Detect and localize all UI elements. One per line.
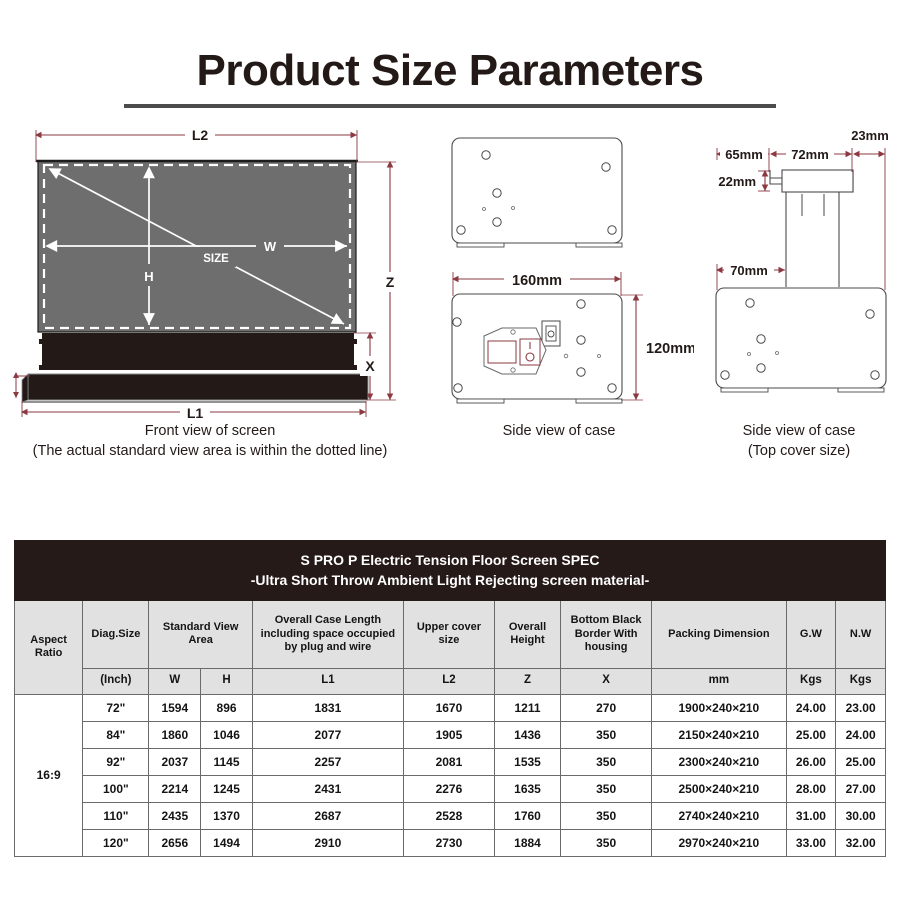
cell-x: 350 [561,748,652,775]
cell-x: 350 [561,721,652,748]
cell-w: 2214 [149,775,201,802]
cell-gw: 25.00 [786,721,836,748]
side-view-top-cover-svg: 65mm 72mm 23mm 22mm 70mm [698,122,900,422]
cell-l1: 2910 [252,829,403,856]
cell-h: 1370 [201,802,253,829]
cell-x: 270 [561,694,652,721]
side-view-case-label-width: 160mm [512,273,562,289]
table-row: 110"243513702687252817603502740×240×2103… [15,802,886,829]
unit-x: X [561,668,652,694]
cell-h: 1494 [201,829,253,856]
cell-l2: 1670 [403,694,494,721]
front-view-caption-line2: (The actual standard view area is within… [0,442,420,462]
cell-w: 1860 [149,721,201,748]
cell-packing-dimension: 1900×240×210 [652,694,786,721]
cell-diag-size: 110" [83,802,149,829]
cell-l1: 2077 [252,721,403,748]
unit-z: Z [494,668,560,694]
cell-packing-dimension: 2150×240×210 [652,721,786,748]
cell-w: 2435 [149,802,201,829]
cell-h: 1145 [201,748,253,775]
front-view-caption-line1: Front view of screen [0,422,420,442]
spec-title-line2: -Ultra Short Throw Ambient Light Rejecti… [19,570,881,590]
cell-z: 1884 [494,829,560,856]
cell-aspect-ratio: 16:9 [15,694,83,856]
header-bottom-black-border: Bottom Black Border With housing [561,600,652,668]
cell-packing-dimension: 2500×240×210 [652,775,786,802]
cell-diag-size: 84" [83,721,149,748]
front-view-diagram: W H SIZE [0,122,420,427]
header-standard-view-area: Standard View Area [149,600,252,668]
top-cover-caption-line2: (Top cover size) [698,442,900,462]
cell-nw: 30.00 [836,802,886,829]
front-view-label-h: H [144,269,153,284]
spec-table-wrap: S PRO P Electric Tension Floor Screen SP… [14,540,886,857]
cell-packing-dimension: 2740×240×210 [652,802,786,829]
side-view-case-svg: 160mm 120mm [424,122,694,422]
side-view-case-caption-line1: Side view of case [424,422,694,442]
cell-z: 1211 [494,694,560,721]
front-view-label-size: SIZE [203,253,229,265]
cell-diag-size: 92" [83,748,149,775]
cell-l1: 2431 [252,775,403,802]
header-overall-case-length: Overall Case Length including space occu… [252,600,403,668]
header-overall-height: Overall Height [494,600,560,668]
cell-gw: 26.00 [786,748,836,775]
cell-x: 350 [561,775,652,802]
unit-diag-size: (Inch) [83,668,149,694]
title-divider [124,104,776,108]
top-cover-label-65mm: 65mm [725,147,763,162]
diagram-band: W H SIZE [0,122,900,482]
cell-h: 1245 [201,775,253,802]
unit-l1: L1 [252,668,403,694]
top-cover-label-70mm: 70mm [730,263,768,278]
cell-h: 896 [201,694,253,721]
cell-l2: 2081 [403,748,494,775]
spec-table-title-row: S PRO P Electric Tension Floor Screen SP… [15,541,886,601]
cell-diag-size: 120" [83,829,149,856]
side-view-case-diagram: 160mm 120mm Side view of case [424,122,694,427]
cell-x: 350 [561,802,652,829]
cell-z: 1635 [494,775,560,802]
front-view-label-z: Z [386,274,395,290]
cell-nw: 32.00 [836,829,886,856]
cell-packing-dimension: 2300×240×210 [652,748,786,775]
header-nw: N.W [836,600,886,668]
spec-table-unit-header-row: (Inch) W H L1 L2 Z X mm Kgs Kgs [15,668,886,694]
spec-table: S PRO P Electric Tension Floor Screen SP… [14,540,886,857]
spec-title-line1: S PRO P Electric Tension Floor Screen SP… [19,550,881,570]
cell-gw: 24.00 [786,694,836,721]
top-cover-label-22mm: 22mm [718,174,756,189]
header-upper-cover-size: Upper cover size [403,600,494,668]
unit-gw: Kgs [786,668,836,694]
table-row: 84"186010462077190514363502150×240×21025… [15,721,886,748]
front-view-label-l1: L1 [187,405,204,421]
front-view-label-l2: L2 [192,127,209,143]
cell-l1: 1831 [252,694,403,721]
top-cover-label-72mm: 72mm [791,147,829,162]
cell-l2: 2276 [403,775,494,802]
cell-diag-size: 72" [83,694,149,721]
cell-l2: 2528 [403,802,494,829]
cell-z: 1535 [494,748,560,775]
front-view-label-w: W [264,239,277,254]
page-title: Product Size Parameters [0,48,900,94]
header-aspect-ratio: Aspect Ratio [15,600,83,694]
cell-x: 350 [561,829,652,856]
header-diag-size: Diag.Size [83,600,149,668]
cell-gw: 31.00 [786,802,836,829]
spec-table-body: 16:972"15948961831167012112701900×240×21… [15,694,886,856]
side-view-top-cover-diagram: 65mm 72mm 23mm 22mm 70mm Side view of ca… [698,122,900,427]
unit-w: W [149,668,201,694]
cell-w: 2037 [149,748,201,775]
unit-nw: Kgs [836,668,886,694]
spec-table-title-cell: S PRO P Electric Tension Floor Screen SP… [15,541,886,601]
unit-h: H [201,668,253,694]
cell-nw: 23.00 [836,694,886,721]
cell-l2: 2730 [403,829,494,856]
cell-l1: 2687 [252,802,403,829]
cell-gw: 28.00 [786,775,836,802]
cell-w: 1594 [149,694,201,721]
top-cover-label-23mm: 23mm [851,128,889,143]
cell-l2: 1905 [403,721,494,748]
cell-z: 1436 [494,721,560,748]
front-view-label-x: X [365,358,375,374]
cell-z: 1760 [494,802,560,829]
cell-h: 1046 [201,721,253,748]
cell-l1: 2257 [252,748,403,775]
side-view-case-caption: Side view of case [424,422,694,442]
table-row: 120"265614942910273018843502970×240×2103… [15,829,886,856]
cell-gw: 33.00 [786,829,836,856]
header-gw: G.W [786,600,836,668]
cell-nw: 25.00 [836,748,886,775]
header-packing-dimension: Packing Dimension [652,600,786,668]
cell-nw: 27.00 [836,775,886,802]
table-row: 100"221412452431227616353502500×240×2102… [15,775,886,802]
cell-nw: 24.00 [836,721,886,748]
case-panel-switch [452,294,622,403]
side-view-top-cover-caption: Side view of case (Top cover size) [698,422,900,461]
unit-l2: L2 [403,668,494,694]
cell-diag-size: 100" [83,775,149,802]
front-view-svg: W H SIZE [0,122,420,422]
cell-packing-dimension: 2970×240×210 [652,829,786,856]
page-header: Product Size Parameters [0,0,900,108]
cell-w: 2656 [149,829,201,856]
top-cover-caption-line1: Side view of case [698,422,900,442]
side-view-case-label-height: 120mm [646,341,694,357]
unit-packing: mm [652,668,786,694]
table-row: 92"203711452257208115353502300×240×21026… [15,748,886,775]
table-row: 16:972"15948961831167012112701900×240×21… [15,694,886,721]
case-panel-plain [452,138,622,247]
front-view-caption: Front view of screen (The actual standar… [0,422,420,461]
spec-table-group-header-row: Aspect Ratio Diag.Size Standard View Are… [15,600,886,668]
